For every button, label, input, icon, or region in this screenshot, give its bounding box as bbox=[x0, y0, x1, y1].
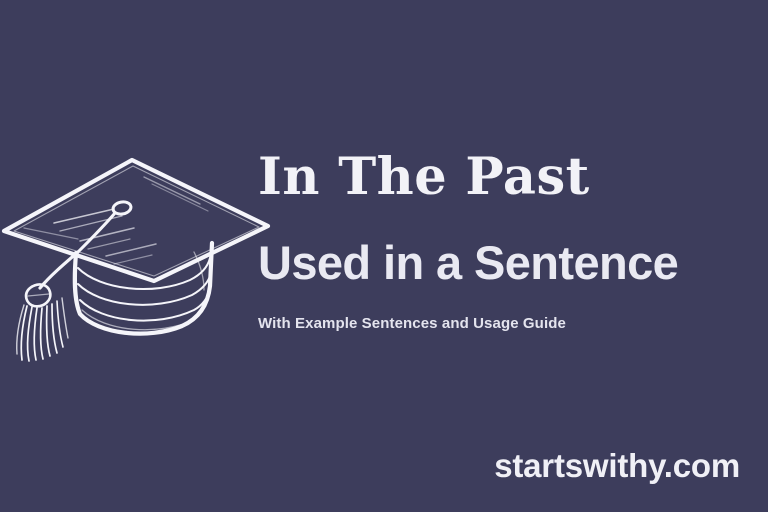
page-title-sans: Used in a Sentence bbox=[258, 239, 758, 286]
page-subtitle: With Example Sentences and Usage Guide bbox=[258, 316, 758, 331]
page-title-serif: In The Past bbox=[258, 152, 758, 203]
headline-block: In The Past Used in a Sentence With Exam… bbox=[258, 152, 758, 331]
graduation-cap-svg bbox=[0, 148, 274, 363]
banner-canvas: In The Past Used in a Sentence With Exam… bbox=[0, 0, 768, 512]
graduation-cap-icon bbox=[0, 148, 274, 363]
site-branding: startswithy.com bbox=[494, 447, 740, 485]
